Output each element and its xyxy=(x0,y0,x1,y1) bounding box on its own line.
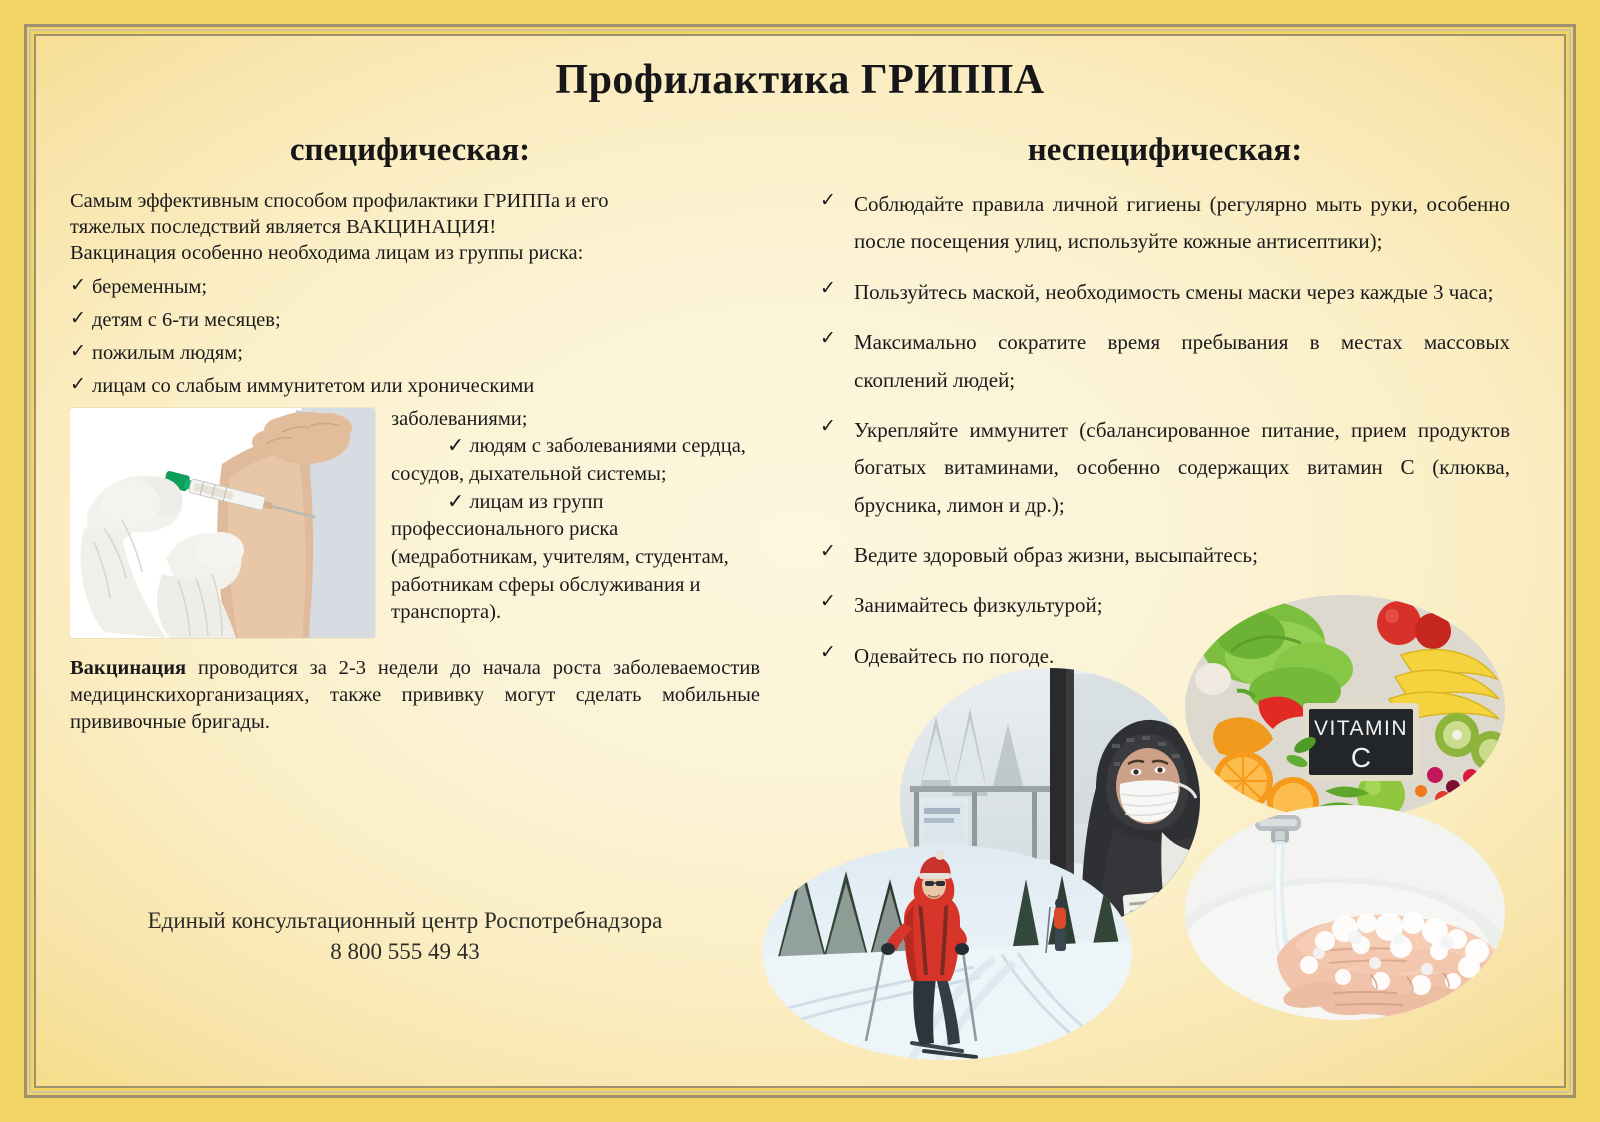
handwashing-illustration xyxy=(1185,805,1505,1020)
vaccination-photo xyxy=(70,408,375,638)
wrapped-bullet-2-rest: профессионального риска (медработникам, … xyxy=(391,518,729,623)
check-icon: ✓ xyxy=(447,435,464,457)
vitamin-c-letter: C xyxy=(1351,742,1371,773)
footer-contact: Единый консультационный центр Роспотребн… xyxy=(60,905,750,967)
vitamin-c-photo: VITAMIN C xyxy=(1185,595,1505,820)
list-item-label: беременным; xyxy=(92,274,760,300)
check-icon: ✓ xyxy=(820,587,854,613)
lead-line-1: Самым эффективным способом профилактики … xyxy=(70,188,760,214)
list-item: ✓ детям с 6-ти месяцев; xyxy=(70,307,760,333)
vitamin-c-illustration: VITAMIN C xyxy=(1185,595,1505,820)
list-item: ✓ беременным; xyxy=(70,274,760,300)
wrapped-bullet-1-rest: заболеваниями сердца, сосудов, дыхательн… xyxy=(391,435,746,485)
list-item-label: Ведите здоровый образ жизни, высыпайтесь… xyxy=(854,537,1510,574)
risk-group-list: ✓ беременным; ✓ детям с 6-ти месяцев; ✓ … xyxy=(70,274,760,400)
column-specific: Самым эффективным способом профилактики … xyxy=(70,188,760,644)
specific-lead-paragraph: Самым эффективным способом профилактики … xyxy=(70,188,760,267)
list-item-label: Пользуйтесь маской, необходимость смены … xyxy=(854,274,1510,311)
check-icon: ✓ xyxy=(820,324,854,350)
vaccination-note-bold: Вакцинация xyxy=(70,657,186,679)
skiing-illustration xyxy=(762,845,1132,1060)
check-icon: ✓ xyxy=(70,340,92,365)
list-item: ✓ Укрепляйте иммунитет (сбалансированное… xyxy=(820,412,1510,524)
list-item: ✓ пожилым людям; xyxy=(70,340,760,366)
check-icon: ✓ xyxy=(70,373,92,398)
wrapped-bullet-1-head: людям с xyxy=(469,435,541,457)
list-item: ✓ Пользуйтесь маской, необходимость смен… xyxy=(820,274,1510,311)
vaccination-note: Вакцинация проводится за 2-3 недели до н… xyxy=(70,655,760,736)
section-heading-specific: специфическая: xyxy=(60,132,760,169)
lead-line-3: Вакцинация особенно необходима лицам из … xyxy=(70,240,760,266)
check-icon: ✓ xyxy=(820,412,854,438)
check-icon: ✓ xyxy=(820,274,854,300)
list-item-label: Максимально сократите время пребывания в… xyxy=(854,324,1510,399)
check-icon: ✓ xyxy=(70,274,92,299)
list-item: ✓ лицам со слабым иммунитетом или хронич… xyxy=(70,373,760,399)
wrapped-bullet-2-head: лицам из групп xyxy=(469,491,603,513)
list-item-label: Укрепляйте иммунитет (сбалансированное п… xyxy=(854,412,1510,524)
check-icon: ✓ xyxy=(820,537,854,563)
list-item-label: пожилым людям; xyxy=(92,340,760,366)
list-item: ✓ Максимально сократите время пребывания… xyxy=(820,324,1510,399)
poster-root: Профилактика ГРИППА специфическая: неспе… xyxy=(0,0,1600,1122)
footer-phone: 8 800 555 49 43 xyxy=(60,936,750,967)
check-icon: ✓ xyxy=(820,638,854,664)
wrapped-continuation: заболеваниями; xyxy=(391,408,527,430)
list-item: ✓ Соблюдайте правила личной гигиены (рег… xyxy=(820,186,1510,261)
skiing-photo xyxy=(762,845,1132,1060)
list-item: ✓ Ведите здоровый образ жизни, высыпайте… xyxy=(820,537,1510,574)
list-item-label: детям с 6-ти месяцев; xyxy=(92,307,760,333)
check-icon: ✓ xyxy=(447,491,464,513)
page-title: Профилактика ГРИППА xyxy=(0,56,1600,104)
section-heading-nonspecific: неспецифическая: xyxy=(820,132,1510,169)
check-icon: ✓ xyxy=(820,186,854,212)
list-item-label: лицам со слабым иммунитетом или хроничес… xyxy=(92,373,760,399)
vaccination-illustration xyxy=(70,408,375,638)
footer-center-name: Единый консультационный центр Роспотребн… xyxy=(60,905,750,936)
list-item-label: Соблюдайте правила личной гигиены (регул… xyxy=(854,186,1510,261)
check-icon: ✓ xyxy=(70,307,92,332)
vitamin-c-label: VITAMIN xyxy=(1314,717,1408,740)
vaccination-photo-textwrap: заболеваниями; ✓ людям с заболеваниями с… xyxy=(70,406,760,644)
lead-line-2: тяжелых последствий является ВАКЦИНАЦИЯ! xyxy=(70,214,760,240)
handwashing-photo xyxy=(1185,805,1505,1020)
